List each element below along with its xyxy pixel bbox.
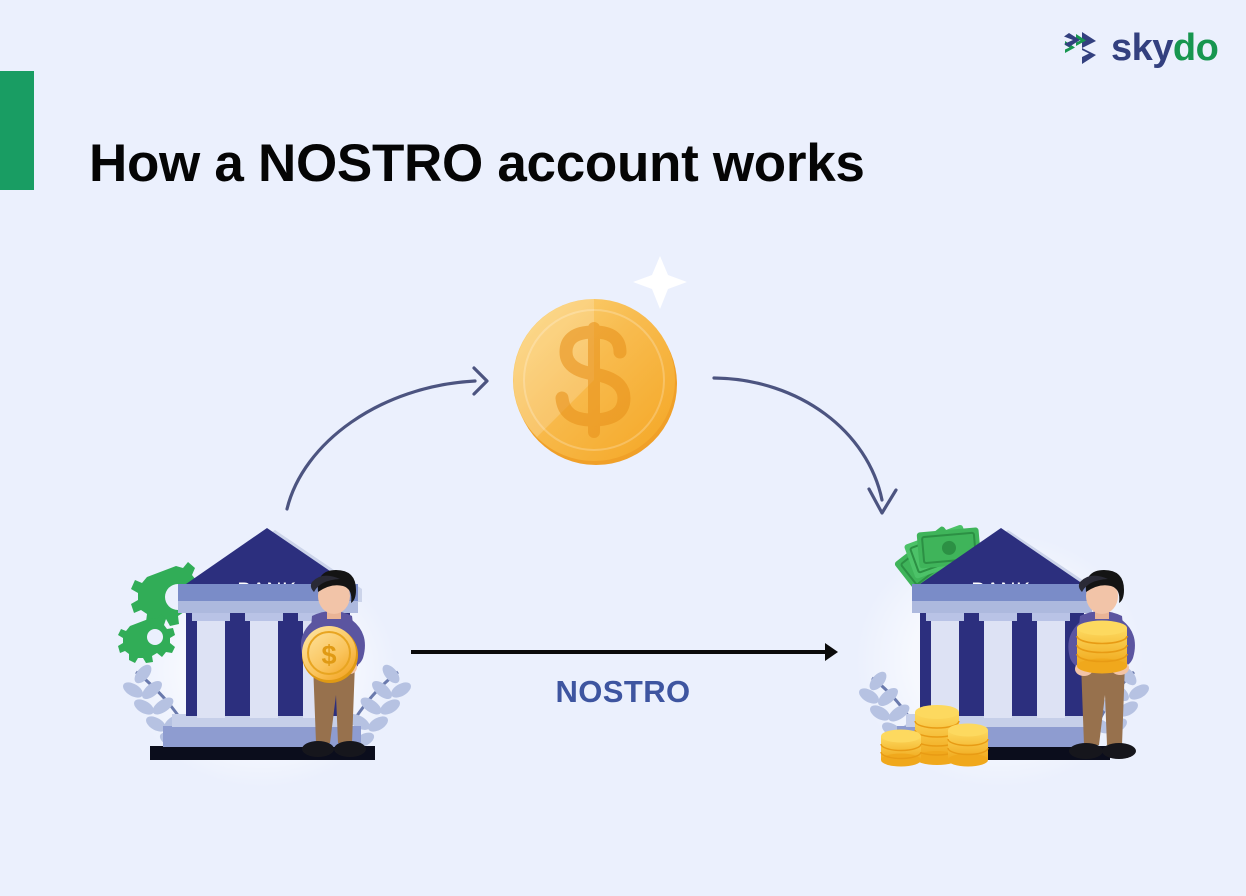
curved-arrow-right [714, 378, 882, 500]
nostro-flow-label: NOSTRO [0, 674, 1246, 710]
diagram-scene: BANK [0, 0, 1246, 896]
gold-coin-stack-icon [1077, 621, 1127, 674]
curved-arrow-left [287, 381, 475, 509]
sparkle-star-icon [633, 256, 687, 309]
infographic-canvas: skydo How a NOSTRO account works [0, 0, 1246, 896]
nostro-flow-arrow [411, 643, 838, 661]
svg-text:$: $ [321, 640, 336, 670]
center-coin-icon [513, 299, 677, 465]
